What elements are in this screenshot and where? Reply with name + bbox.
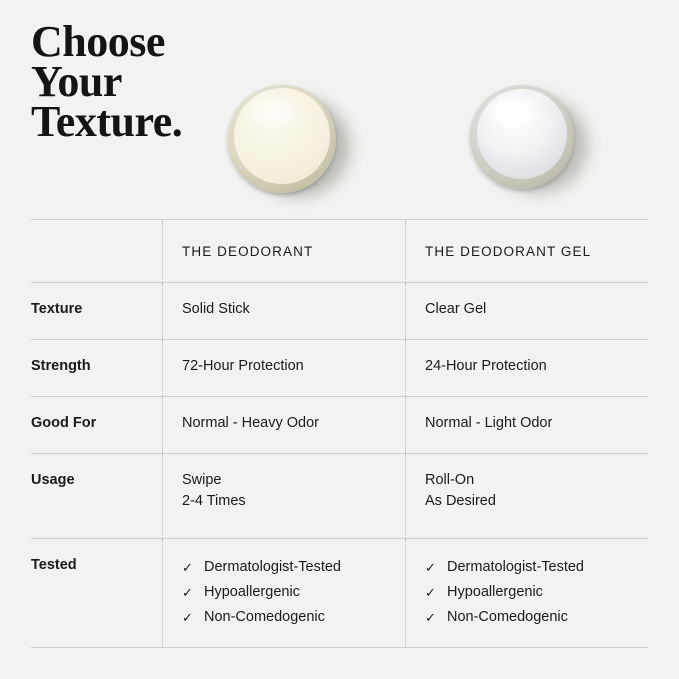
jar-highlight (248, 97, 298, 127)
check-icon: ✓ (182, 555, 194, 580)
list-item-label: Non-Comedogenic (204, 605, 325, 630)
row-tested-deodorant: ✓ Dermatologist-Tested ✓ Hypoallergenic … (162, 539, 405, 647)
check-icon: ✓ (182, 605, 194, 630)
check-icon: ✓ (425, 605, 437, 630)
row-good-for-gel: Normal - Light Odor (405, 397, 648, 453)
row-texture-deodorant: Solid Stick (162, 283, 405, 339)
row-label-strength: Strength (31, 340, 162, 396)
page-title-line-2: Your (31, 62, 182, 102)
deodorant-stick-jar-image (228, 85, 336, 193)
row-label-good-for: Good For (31, 397, 162, 453)
row-label-tested: Tested (31, 539, 162, 647)
check-icon: ✓ (182, 580, 194, 605)
deodorant-gel-jar-image (470, 85, 574, 189)
tested-list-deodorant: ✓ Dermatologist-Tested ✓ Hypoallergenic … (182, 555, 405, 630)
comparison-table: THE DEODORANT THE DEODORANT GEL Texture … (31, 219, 648, 648)
jar-rim (228, 85, 336, 193)
table-row: Tested ✓ Dermatologist-Tested ✓ Hypoalle… (31, 538, 648, 648)
list-item: ✓ Hypoallergenic (182, 580, 405, 605)
list-item: ✓ Non-Comedogenic (182, 605, 405, 630)
list-item-label: Dermatologist-Tested (447, 555, 584, 580)
row-label-texture: Texture (31, 283, 162, 339)
list-item-label: Dermatologist-Tested (204, 555, 341, 580)
table-header-label (31, 220, 162, 282)
list-item: ✓ Hypoallergenic (425, 580, 648, 605)
jar-rim (470, 85, 574, 189)
row-label-usage: Usage (31, 454, 162, 538)
jar-highlight (490, 97, 536, 125)
tested-list-gel: ✓ Dermatologist-Tested ✓ Hypoallergenic … (425, 555, 648, 630)
comparison-page: Choose Your Texture. THE DEODORANT THE D… (0, 0, 679, 679)
table-header-deodorant-gel: THE DEODORANT GEL (405, 220, 648, 282)
table-row: Good For Normal - Heavy Odor Normal - Li… (31, 396, 648, 453)
table-header-deodorant: THE DEODORANT (162, 220, 405, 282)
page-title-line-1: Choose (31, 22, 182, 62)
list-item: ✓ Non-Comedogenic (425, 605, 648, 630)
list-item: ✓ Dermatologist-Tested (182, 555, 405, 580)
page-title-line-3: Texture. (31, 102, 182, 142)
page-title: Choose Your Texture. (31, 22, 182, 142)
table-row: Usage Swipe 2-4 Times Roll-On As Desired (31, 453, 648, 538)
row-usage-deodorant: Swipe 2-4 Times (162, 454, 405, 538)
check-icon: ✓ (425, 580, 437, 605)
list-item: ✓ Dermatologist-Tested (425, 555, 648, 580)
check-icon: ✓ (425, 555, 437, 580)
table-row: Strength 72-Hour Protection 24-Hour Prot… (31, 339, 648, 396)
row-good-for-deodorant: Normal - Heavy Odor (162, 397, 405, 453)
list-item-label: Hypoallergenic (447, 580, 543, 605)
row-tested-gel: ✓ Dermatologist-Tested ✓ Hypoallergenic … (405, 539, 648, 647)
table-row: Texture Solid Stick Clear Gel (31, 282, 648, 339)
row-usage-gel: Roll-On As Desired (405, 454, 648, 538)
list-item-label: Hypoallergenic (204, 580, 300, 605)
table-header-row: THE DEODORANT THE DEODORANT GEL (31, 219, 648, 282)
row-texture-gel: Clear Gel (405, 283, 648, 339)
row-strength-gel: 24-Hour Protection (405, 340, 648, 396)
list-item-label: Non-Comedogenic (447, 605, 568, 630)
row-strength-deodorant: 72-Hour Protection (162, 340, 405, 396)
